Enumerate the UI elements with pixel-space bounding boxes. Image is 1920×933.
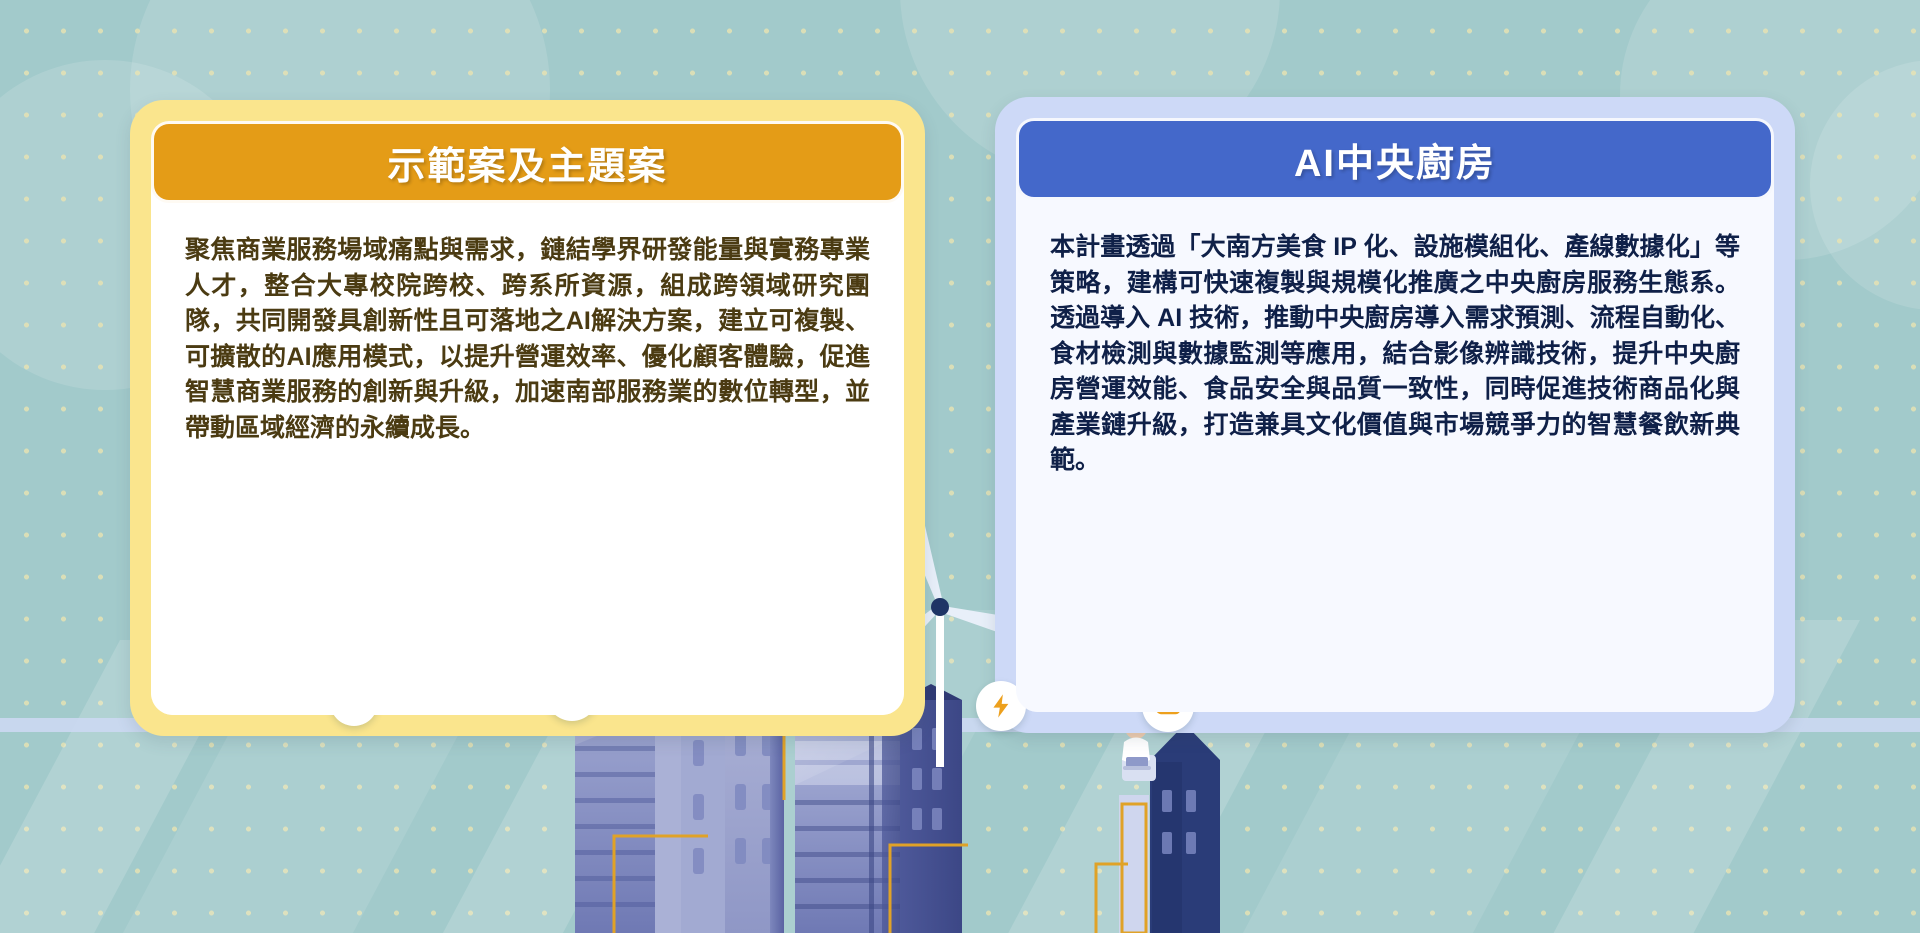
card-ai-central-kitchen[interactable]: 本計畫透過「大南方美食 IP 化、設施模組化、產線數據化」等策略，建構可快速複製…	[995, 97, 1795, 733]
card-title: AI中央廚房	[1294, 132, 1496, 187]
card-header-ai-central-kitchen: AI中央廚房	[1016, 118, 1774, 200]
card-title: 示範案及主題案	[387, 135, 667, 190]
card-body-text: 本計畫透過「大南方美食 IP 化、設施模組化、產線數據化」等策略，建構可快速複製…	[1050, 230, 1740, 479]
card-body-demo-theme-case: 聚焦商業服務場域痛點與需求，鏈結學界研發能量與實務專業人才，整合大專校院跨校、跨…	[151, 203, 904, 715]
card-demo-theme-case[interactable]: 聚焦商業服務場域痛點與需求，鏈結學界研發能量與實務專業人才，整合大專校院跨校、跨…	[130, 100, 925, 736]
card-header-demo-theme-case: 示範案及主題案	[151, 121, 904, 203]
card-body-ai-central-kitchen: 本計畫透過「大南方美食 IP 化、設施模組化、產線數據化」等策略，建構可快速複製…	[1016, 200, 1774, 712]
card-body-text: 聚焦商業服務場域痛點與需求，鏈結學界研發能量與實務專業人才，整合大專校院跨校、跨…	[185, 233, 870, 446]
poster-canvas: 聚焦商業服務場域痛點與需求，鏈結學界研發能量與實務專業人才，整合大專校院跨校、跨…	[0, 0, 1920, 933]
